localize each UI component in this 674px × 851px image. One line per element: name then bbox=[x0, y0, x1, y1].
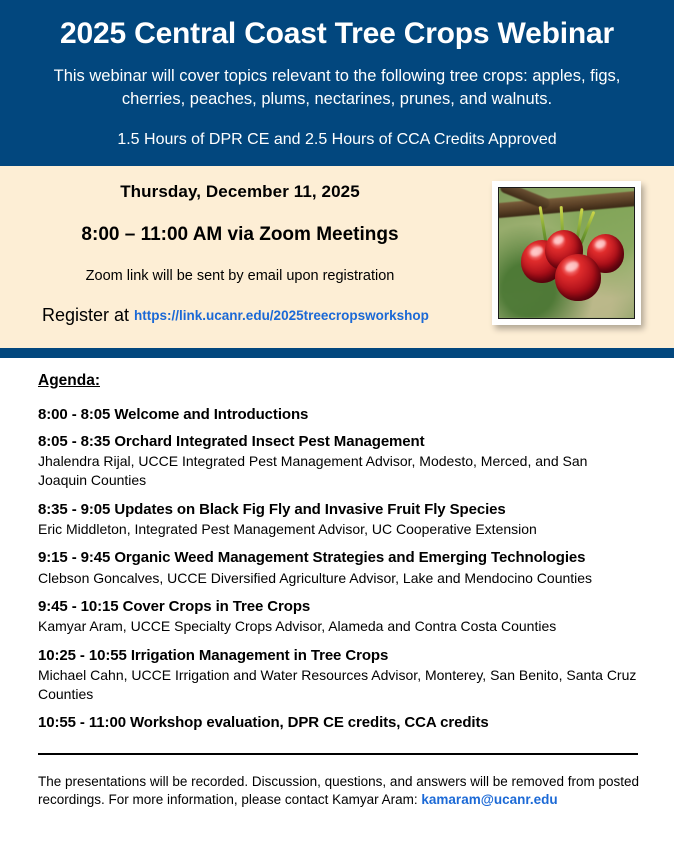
event-details-text: Thursday, December 11, 2025 8:00 – 11:00… bbox=[0, 166, 480, 326]
agenda-item: 9:45 - 10:15 Cover Crops in Tree Crops K… bbox=[38, 597, 638, 646]
agenda-item-title: 9:45 - 10:15 Cover Crops in Tree Crops bbox=[38, 597, 638, 616]
cherry-highlight bbox=[564, 259, 580, 273]
cherry-highlight bbox=[552, 234, 566, 246]
agenda-item-speaker: Clebson Goncalves, UCCE Diversified Agri… bbox=[38, 568, 638, 588]
registration-line: Register at https://link.ucanr.edu/2025t… bbox=[0, 284, 480, 326]
registration-link[interactable]: https://link.ucanr.edu/2025treecropswork… bbox=[134, 308, 429, 323]
cherry-highlight bbox=[594, 238, 607, 250]
cherry-fruit bbox=[555, 254, 601, 301]
agenda-item-speaker: Michael Cahn, UCCE Irrigation and Water … bbox=[38, 665, 638, 703]
event-date: Thursday, December 11, 2025 bbox=[0, 182, 480, 202]
agenda-item-title: 8:05 - 8:35 Orchard Integrated Insect Pe… bbox=[38, 432, 638, 451]
section-divider bbox=[0, 348, 674, 358]
agenda-item: 10:55 - 11:00 Workshop evaluation, DPR C… bbox=[38, 713, 638, 740]
header-subtitle: This webinar will cover topics relevant … bbox=[18, 51, 656, 111]
cherry-photo-frame bbox=[492, 181, 641, 325]
cherry-highlight bbox=[529, 245, 544, 258]
agenda-item: 8:35 - 9:05 Updates on Black Fig Fly and… bbox=[38, 500, 638, 549]
agenda-item: 8:00 - 8:05 Welcome and Introductions bbox=[38, 405, 638, 432]
agenda-item-title: 8:35 - 9:05 Updates on Black Fig Fly and… bbox=[38, 500, 638, 519]
agenda-item-speaker: Jhalendra Rijal, UCCE Integrated Pest Ma… bbox=[38, 451, 638, 489]
header-banner: 2025 Central Coast Tree Crops Webinar Th… bbox=[0, 0, 674, 166]
webinar-flyer: 2025 Central Coast Tree Crops Webinar Th… bbox=[0, 0, 674, 851]
agenda-item: 8:05 - 8:35 Orchard Integrated Insect Pe… bbox=[38, 432, 638, 499]
agenda-section: Agenda: 8:00 - 8:05 Welcome and Introduc… bbox=[0, 358, 674, 809]
register-label: Register at bbox=[42, 305, 134, 325]
event-time: 8:00 – 11:00 AM via Zoom Meetings bbox=[0, 202, 480, 246]
contact-email-link[interactable]: kamaram@ucanr.edu bbox=[421, 792, 557, 807]
agenda-item-title: 10:25 - 10:55 Irrigation Management in T… bbox=[38, 646, 638, 665]
agenda-item-title: 8:00 - 8:05 Welcome and Introductions bbox=[38, 405, 638, 424]
agenda-item: 10:25 - 10:55 Irrigation Management in T… bbox=[38, 646, 638, 713]
agenda-item: 9:15 - 9:45 Organic Weed Management Stra… bbox=[38, 548, 638, 597]
agenda-item-speaker: Kamyar Aram, UCCE Specialty Crops Adviso… bbox=[38, 616, 638, 636]
header-credits-line: 1.5 Hours of DPR CE and 2.5 Hours of CCA… bbox=[18, 111, 656, 149]
zoom-link-note: Zoom link will be sent by email upon reg… bbox=[0, 246, 480, 284]
agenda-item-speaker: Eric Middleton, Integrated Pest Manageme… bbox=[38, 519, 638, 539]
footer-note: The presentations will be recorded. Disc… bbox=[38, 755, 640, 810]
agenda-item-title: 10:55 - 11:00 Workshop evaluation, DPR C… bbox=[38, 713, 638, 732]
agenda-heading: Agenda: bbox=[38, 372, 638, 405]
cherry-photo bbox=[498, 187, 635, 319]
page-title: 2025 Central Coast Tree Crops Webinar bbox=[18, 10, 656, 51]
agenda-item-title: 9:15 - 9:45 Organic Weed Management Stra… bbox=[38, 548, 638, 567]
